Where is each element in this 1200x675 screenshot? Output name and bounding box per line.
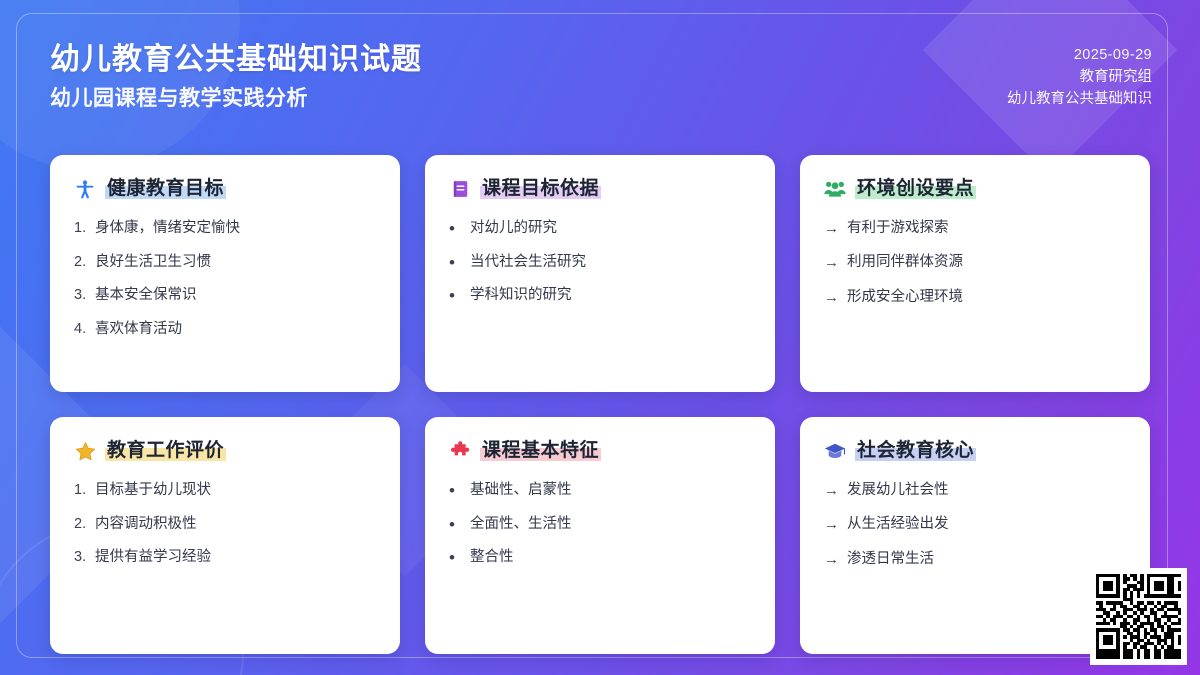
list-item: 2.内容调动积极性: [74, 514, 376, 536]
list-bullet: •: [449, 480, 462, 502]
header-date: 2025-09-29: [1007, 44, 1152, 66]
slide-root: 幼儿教育公共基础知识试题 幼儿园课程与教学实践分析 2025-09-29 教育研…: [0, 0, 1200, 675]
list-item: 1.目标基于幼儿现状: [74, 480, 376, 502]
list-bullet: 3.: [74, 285, 87, 307]
list-item-text: 身体康，情绪安定愉快: [95, 218, 376, 240]
card-curriculum-goal-basis: 课程目标依据•对幼儿的研究•当代社会生活研究•学科知识的研究: [425, 155, 775, 392]
list-bullet: →: [824, 480, 839, 503]
card-item-list: →发展幼儿社会性→从生活经验出发→渗透日常生活: [824, 480, 1126, 572]
card-item-list: 1.身体康，情绪安定愉快2.良好生活卫生习惯3.基本安全保常识4.喜欢体育活动: [74, 218, 376, 341]
list-item-text: 喜欢体育活动: [95, 319, 376, 341]
list-item-text: 有利于游戏探索: [847, 218, 1126, 240]
list-item: •基础性、启蒙性: [449, 480, 751, 502]
list-item: •对幼儿的研究: [449, 218, 751, 240]
card-grid: 健康教育目标1.身体康，情绪安定愉快2.良好生活卫生习惯3.基本安全保常识4.喜…: [50, 155, 1150, 654]
list-bullet: 1.: [74, 218, 87, 240]
puzzle-piece-icon: [449, 440, 471, 462]
list-bullet: •: [449, 285, 462, 307]
header-org: 教育研究组: [1007, 66, 1152, 88]
list-item: 1.身体康，情绪安定愉快: [74, 218, 376, 240]
list-item-text: 对幼儿的研究: [470, 218, 751, 240]
page-title: 幼儿教育公共基础知识试题: [50, 42, 422, 79]
list-bullet: →: [824, 549, 839, 572]
list-bullet: •: [449, 547, 462, 569]
list-item: →形成安全心理环境: [824, 287, 1126, 310]
card-header: 社会教育核心: [824, 439, 1126, 464]
card-title: 课程基本特征: [480, 439, 601, 464]
card-item-list: →有利于游戏探索→利用同伴群体资源→形成安全心理环境: [824, 218, 1126, 310]
star-icon: [74, 440, 96, 462]
list-item-text: 整合性: [470, 547, 751, 569]
list-bullet: •: [449, 252, 462, 274]
qr-code-matrix: [1096, 574, 1181, 659]
header-meta-block: 2025-09-29 教育研究组 幼儿教育公共基础知识: [1007, 44, 1152, 110]
list-item: →发展幼儿社会性: [824, 480, 1126, 503]
header-title-block: 幼儿教育公共基础知识试题 幼儿园课程与教学实践分析: [50, 42, 422, 114]
card-header: 课程基本特征: [449, 439, 751, 464]
qr-code[interactable]: [1090, 568, 1187, 665]
list-item-text: 学科知识的研究: [470, 285, 751, 307]
list-item: •整合性: [449, 547, 751, 569]
list-item-text: 内容调动积极性: [95, 514, 376, 536]
list-item-text: 良好生活卫生习惯: [95, 252, 376, 274]
list-item: →从生活经验出发: [824, 514, 1126, 537]
header-topic: 幼儿教育公共基础知识: [1007, 88, 1152, 110]
list-item: •当代社会生活研究: [449, 252, 751, 274]
list-item: •全面性、生活性: [449, 514, 751, 536]
list-bullet: •: [449, 218, 462, 240]
list-bullet: 4.: [74, 319, 87, 341]
list-bullet: 2.: [74, 514, 87, 536]
list-item-text: 基本安全保常识: [95, 285, 376, 307]
list-item-text: 全面性、生活性: [470, 514, 751, 536]
card-title: 环境创设要点: [855, 177, 976, 202]
list-item-text: 提供有益学习经验: [95, 547, 376, 569]
people-group-icon: [824, 178, 846, 200]
card-title: 教育工作评价: [105, 439, 226, 464]
list-bullet: •: [449, 514, 462, 536]
card-environment-creation-points: 环境创设要点→有利于游戏探索→利用同伴群体资源→形成安全心理环境: [800, 155, 1150, 392]
list-item: •学科知识的研究: [449, 285, 751, 307]
book-icon: [449, 178, 471, 200]
card-title: 课程目标依据: [480, 177, 601, 202]
list-bullet: →: [824, 252, 839, 275]
list-item-text: 发展幼儿社会性: [847, 480, 1126, 502]
list-bullet: 1.: [74, 480, 87, 502]
list-item: →渗透日常生活: [824, 549, 1126, 572]
card-curriculum-basic-features: 课程基本特征•基础性、启蒙性•全面性、生活性•整合性: [425, 417, 775, 654]
list-item-text: 基础性、启蒙性: [470, 480, 751, 502]
card-item-list: 1.目标基于幼儿现状2.内容调动积极性3.提供有益学习经验: [74, 480, 376, 569]
page-subtitle: 幼儿园课程与教学实践分析: [50, 83, 422, 115]
list-bullet: →: [824, 514, 839, 537]
list-item: 3.提供有益学习经验: [74, 547, 376, 569]
list-item: 4.喜欢体育活动: [74, 319, 376, 341]
card-header: 健康教育目标: [74, 177, 376, 202]
list-item-text: 利用同伴群体资源: [847, 252, 1126, 274]
list-item: →利用同伴群体资源: [824, 252, 1126, 275]
list-item-text: 形成安全心理环境: [847, 287, 1126, 309]
list-bullet: →: [824, 218, 839, 241]
card-health-education-goals: 健康教育目标1.身体康，情绪安定愉快2.良好生活卫生习惯3.基本安全保常识4.喜…: [50, 155, 400, 392]
graduation-cap-icon: [824, 440, 846, 462]
list-item: 2.良好生活卫生习惯: [74, 252, 376, 274]
list-item-text: 渗透日常生活: [847, 549, 1126, 571]
card-title: 健康教育目标: [105, 177, 226, 202]
card-item-list: •对幼儿的研究•当代社会生活研究•学科知识的研究: [449, 218, 751, 307]
card-item-list: •基础性、启蒙性•全面性、生活性•整合性: [449, 480, 751, 569]
card-header: 教育工作评价: [74, 439, 376, 464]
list-item-text: 当代社会生活研究: [470, 252, 751, 274]
list-item-text: 从生活经验出发: [847, 514, 1126, 536]
list-item: →有利于游戏探索: [824, 218, 1126, 241]
list-bullet: 2.: [74, 252, 87, 274]
card-header: 课程目标依据: [449, 177, 751, 202]
card-education-work-evaluation: 教育工作评价1.目标基于幼儿现状2.内容调动积极性3.提供有益学习经验: [50, 417, 400, 654]
list-bullet: →: [824, 287, 839, 310]
slide-header: 幼儿教育公共基础知识试题 幼儿园课程与教学实践分析 2025-09-29 教育研…: [0, 0, 1200, 140]
child-person-icon: [74, 178, 96, 200]
list-item: 3.基本安全保常识: [74, 285, 376, 307]
list-bullet: 3.: [74, 547, 87, 569]
card-header: 环境创设要点: [824, 177, 1126, 202]
list-item-text: 目标基于幼儿现状: [95, 480, 376, 502]
card-title: 社会教育核心: [855, 439, 976, 464]
